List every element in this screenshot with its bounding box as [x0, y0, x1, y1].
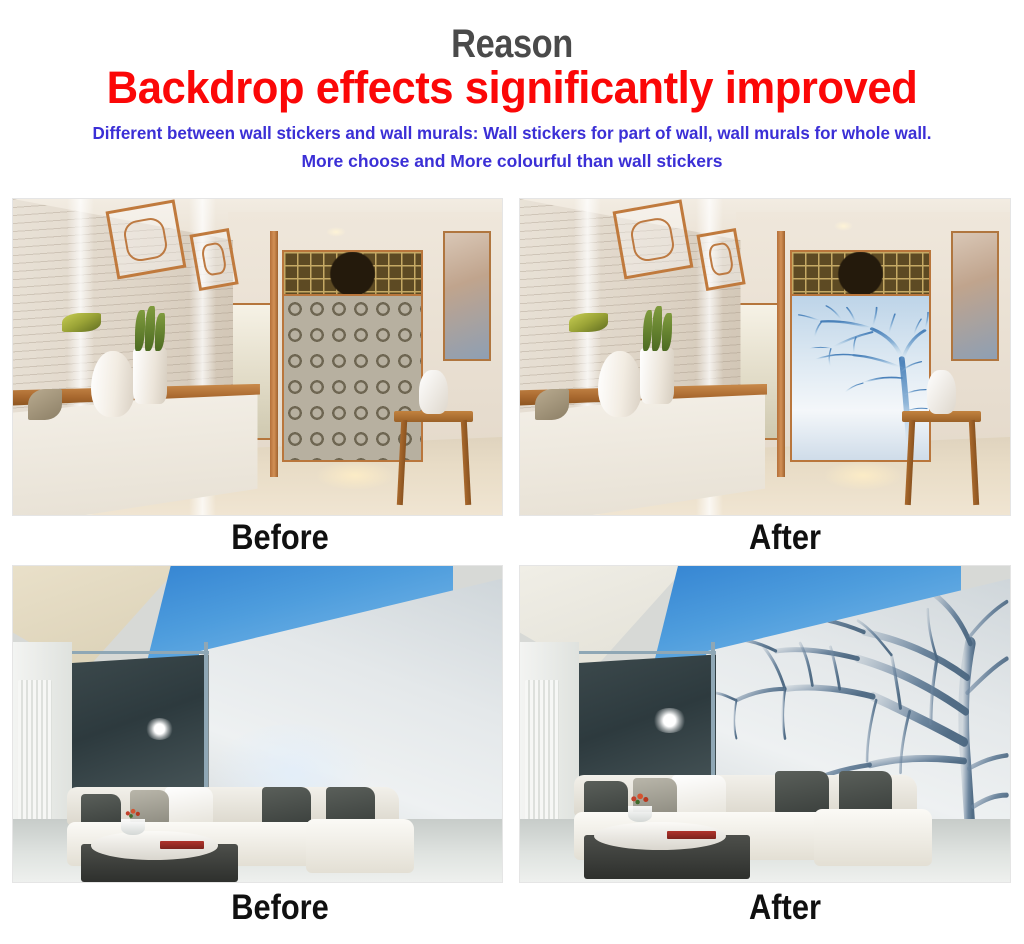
comparison-image-hallway-before: [13, 199, 502, 515]
eyebrow-heading: Reason: [72, 0, 953, 66]
plant-pot: [133, 348, 167, 405]
books-on-table: [667, 831, 716, 839]
caption-livingroom-before: Before: [170, 888, 390, 928]
floor-light-pool: [824, 461, 902, 489]
comparison-image-livingroom-after: [520, 566, 1010, 882]
sofa-chaise: [306, 819, 414, 873]
decorative-statue: [419, 370, 448, 414]
glass-edge: [204, 642, 208, 806]
plant-leaf: [155, 313, 165, 351]
flower-bouquet: [623, 790, 657, 809]
lattice-grille: [790, 250, 931, 298]
promo-header: Reason Backdrop effects significantly im…: [0, 0, 1024, 174]
door-frame: [270, 231, 278, 477]
sofa-cushion: [672, 775, 726, 816]
glass-edge-top: [62, 651, 209, 654]
subtitle-line-1: Different between wall stickers and wall…: [15, 120, 1008, 146]
comparison-image-livingroom-before: [13, 566, 502, 882]
table-lamp: [62, 313, 101, 332]
books-on-table: [160, 841, 204, 849]
floor-light-pool: [316, 461, 394, 489]
sofa-chaise: [814, 809, 932, 866]
sofa-cushion: [165, 787, 214, 825]
decor-object: [535, 389, 569, 421]
comparison-image-hallway-after: [520, 199, 1010, 515]
caption-livingroom-after: After: [675, 888, 895, 928]
caption-hallway-after: After: [675, 518, 895, 558]
page-title: Backdrop effects significantly improved: [15, 64, 1008, 112]
hallway-after-scene: [520, 199, 1010, 515]
ceiling-spotlight: [145, 718, 174, 740]
glass-edge-top: [569, 651, 716, 654]
ceiling-downlight: [326, 227, 346, 236]
framed-artwork: [951, 231, 999, 361]
door-frame: [777, 231, 785, 477]
wall-ornament-large: [105, 200, 186, 280]
glass-partition: [62, 654, 209, 806]
ceiling-spotlight: [652, 708, 686, 733]
livingroom-before-scene: [13, 566, 502, 882]
framed-artwork: [443, 231, 491, 361]
ceiling-downlight: [834, 221, 854, 230]
subtitle-line-2: More choose and More colourful than wall…: [0, 148, 1024, 174]
livingroom-after-scene: [520, 566, 1010, 882]
decorative-statue: [927, 370, 956, 414]
caption-hallway-before: Before: [170, 518, 390, 558]
plant-pot: [640, 348, 674, 405]
decor-object: [28, 389, 62, 421]
wall-ornament-large: [613, 200, 694, 280]
lattice-grille: [282, 250, 423, 298]
flower-bouquet: [116, 806, 150, 822]
hallway-before-scene: [13, 199, 502, 515]
table-lamp: [569, 313, 608, 332]
